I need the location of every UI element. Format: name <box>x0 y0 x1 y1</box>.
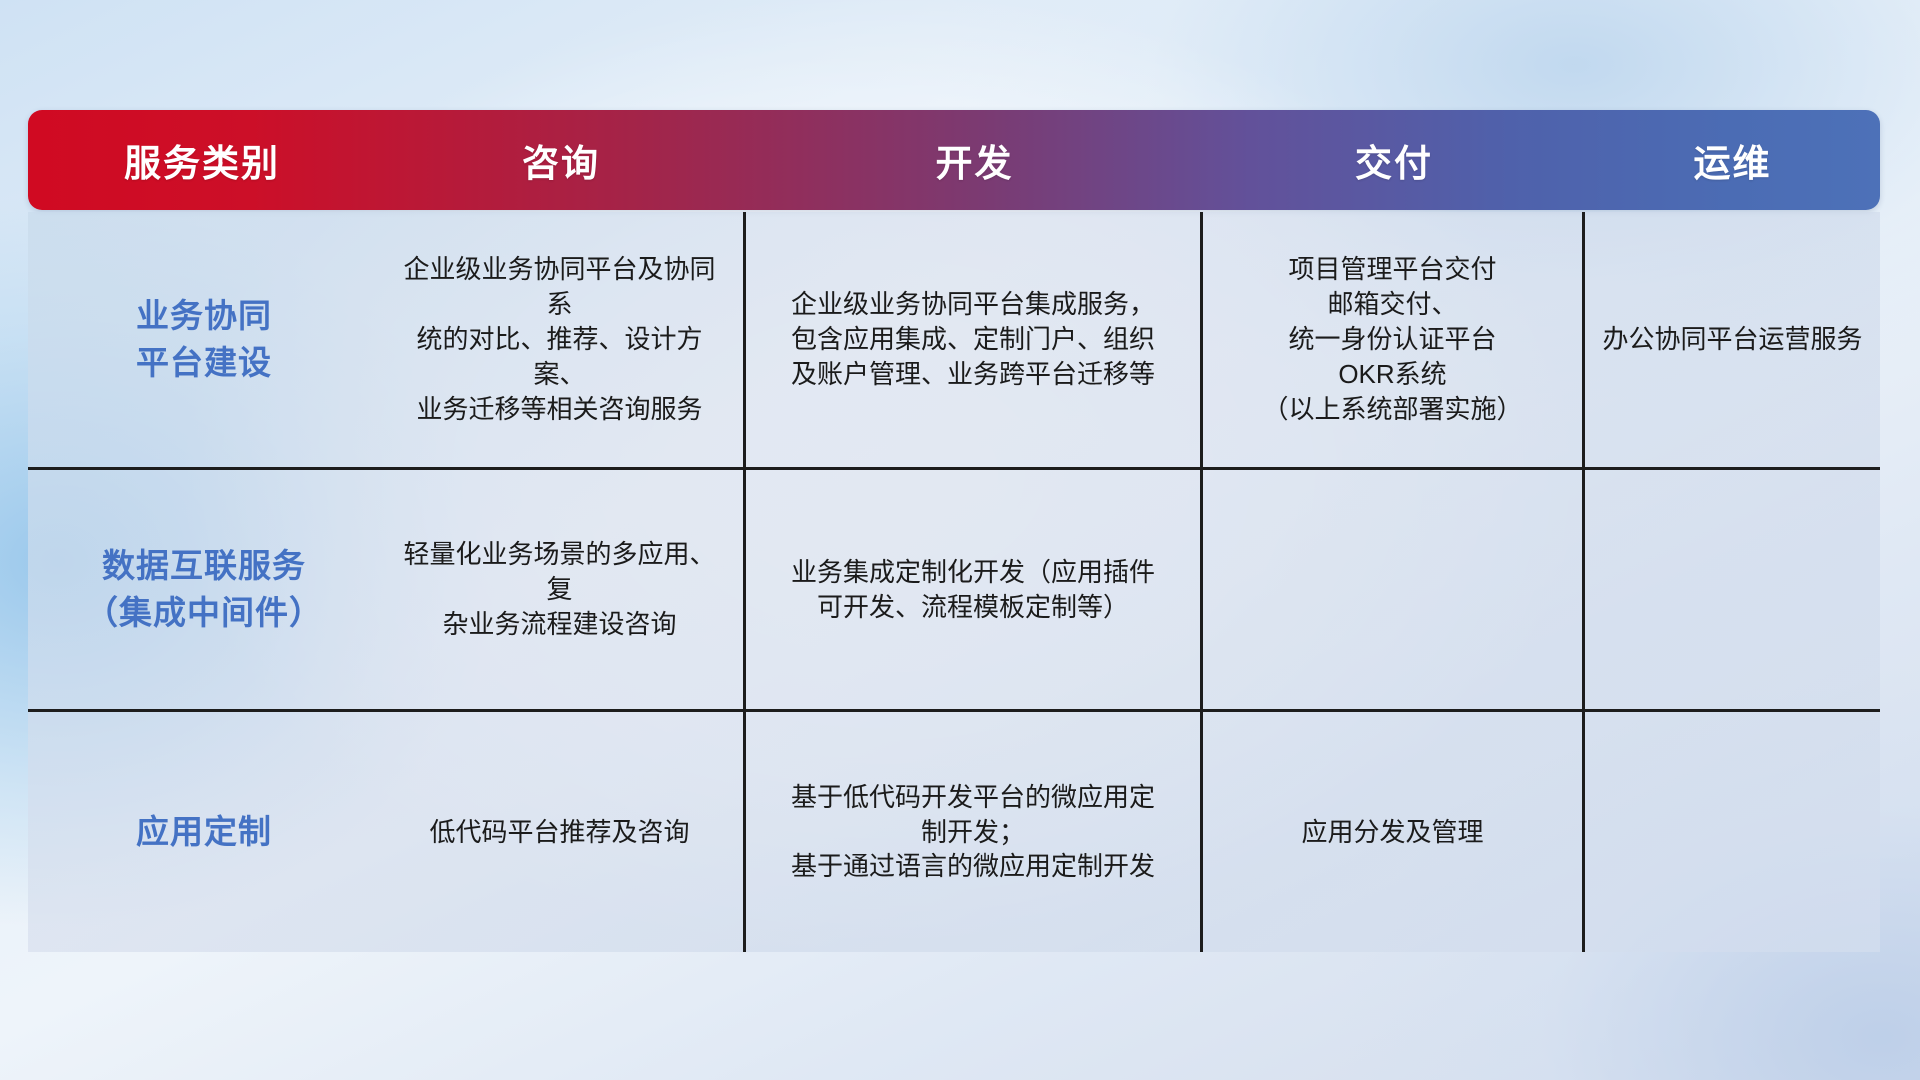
slide-canvas: 服务类别 咨询 开发 交付 运维 业务协同 平台建设 企业级业务协同平台及协同系… <box>0 0 1920 1080</box>
column-header-development: 开发 <box>746 133 1203 187</box>
table-row: 应用定制 低代码平台推荐及咨询 基于低代码开发平台的微应用定 制开发； 基于通过… <box>28 712 1880 952</box>
cell-development: 基于低代码开发平台的微应用定 制开发； 基于通过语言的微应用定制开发 <box>746 712 1203 952</box>
row-label-business-collaboration: 业务协同 平台建设 <box>28 212 376 467</box>
cell-consulting: 轻量化业务场景的多应用、复 杂业务流程建设咨询 <box>376 470 746 709</box>
row-label-app-customization: 应用定制 <box>28 712 376 952</box>
column-header-service-category: 服务类别 <box>28 133 376 187</box>
cell-development: 业务集成定制化开发（应用插件 可开发、流程模板定制等） <box>746 470 1203 709</box>
table-row: 数据互联服务 （集成中间件） 轻量化业务场景的多应用、复 杂业务流程建设咨询 业… <box>28 470 1880 712</box>
column-header-consulting: 咨询 <box>376 133 746 187</box>
cell-development: 企业级业务协同平台集成服务， 包含应用集成、定制门户、组织 及账户管理、业务跨平… <box>746 212 1203 467</box>
cell-operations <box>1585 470 1880 709</box>
row-label-data-interconnect: 数据互联服务 （集成中间件） <box>28 470 376 709</box>
cell-consulting: 低代码平台推荐及咨询 <box>376 712 746 952</box>
cell-delivery: 应用分发及管理 <box>1203 712 1585 952</box>
table-header-bar: 服务类别 咨询 开发 交付 运维 <box>28 110 1880 210</box>
cell-delivery <box>1203 470 1585 709</box>
cell-operations: 办公协同平台运营服务 <box>1585 212 1880 467</box>
cell-delivery: 项目管理平台交付 邮箱交付、 统一身份认证平台 OKR系统 （以上系统部署实施） <box>1203 212 1585 467</box>
column-header-operations: 运维 <box>1585 133 1880 187</box>
table-body: 业务协同 平台建设 企业级业务协同平台及协同系 统的对比、推荐、设计方案、 业务… <box>28 212 1880 952</box>
table-row: 业务协同 平台建设 企业级业务协同平台及协同系 统的对比、推荐、设计方案、 业务… <box>28 212 1880 470</box>
cell-operations <box>1585 712 1880 952</box>
cell-consulting: 企业级业务协同平台及协同系 统的对比、推荐、设计方案、 业务迁移等相关咨询服务 <box>376 212 746 467</box>
column-header-delivery: 交付 <box>1203 133 1585 187</box>
